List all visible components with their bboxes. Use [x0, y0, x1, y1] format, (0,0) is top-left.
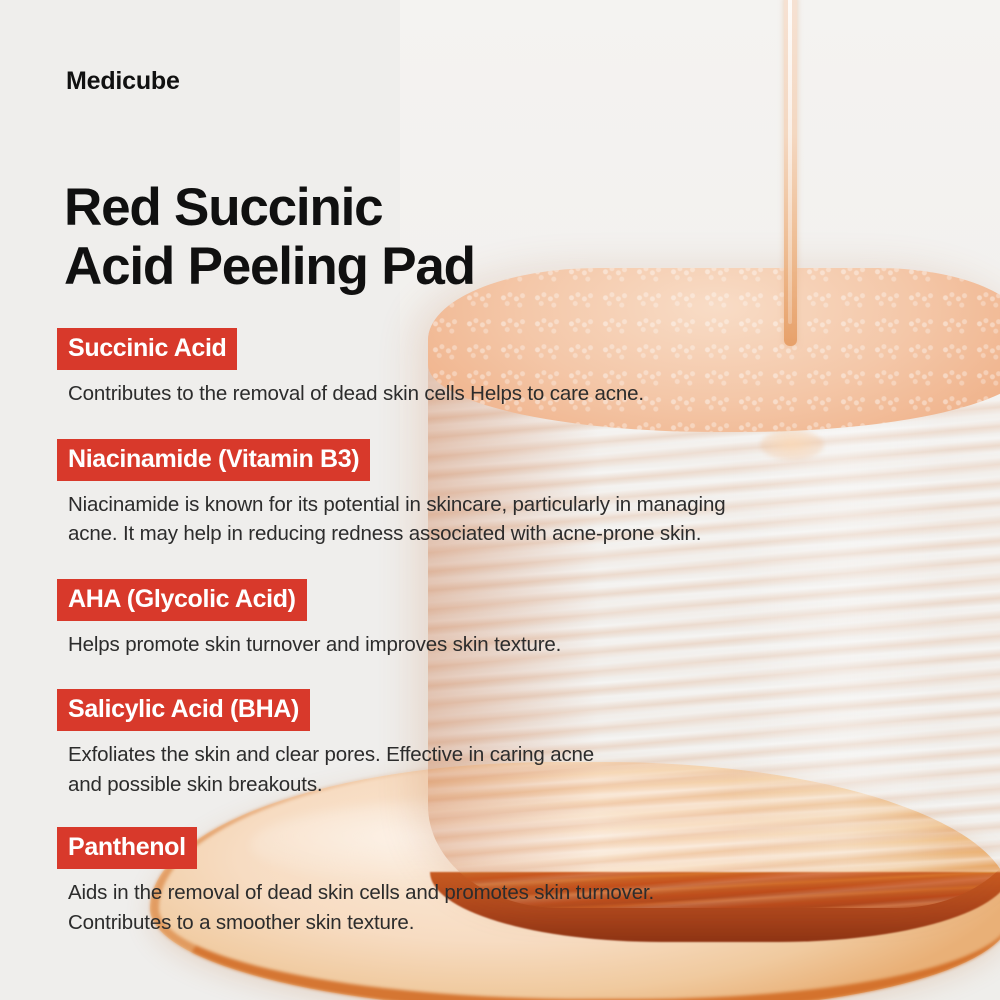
- ingredient-badge: Niacinamide (Vitamin B3): [57, 439, 370, 481]
- ingredient-block-aha: AHA (Glycolic Acid) Helps promote skin t…: [57, 579, 957, 660]
- ingredient-description: Contributes to the removal of dead skin …: [68, 379, 957, 409]
- ingredient-description: Helps promote skin turnover and improves…: [68, 630, 957, 660]
- ingredient-badge: Salicylic Acid (BHA): [57, 689, 310, 731]
- ingredient-description: Exfoliates the skin and clear pores. Eff…: [68, 740, 957, 799]
- ingredient-badge: Panthenol: [57, 827, 197, 869]
- ingredient-block-salicylic-acid: Salicylic Acid (BHA) Exfoliates the skin…: [57, 689, 957, 799]
- ingredient-block-niacinamide: Niacinamide (Vitamin B3) Niacinamide is …: [57, 439, 957, 549]
- brand-name: Medicube: [66, 67, 180, 96]
- text-overlay: Medicube Red Succinic Acid Peeling Pad S…: [0, 0, 1000, 1000]
- ingredient-description: Aids in the removal of dead skin cells a…: [68, 878, 957, 937]
- ingredient-badge: AHA (Glycolic Acid): [57, 579, 307, 621]
- ingredient-badge: Succinic Acid: [57, 328, 237, 370]
- ingredient-block-succinic-acid: Succinic Acid Contributes to the removal…: [57, 328, 957, 409]
- ingredient-description: Niacinamide is known for its potential i…: [68, 490, 957, 549]
- product-info-graphic: Medicube Red Succinic Acid Peeling Pad S…: [0, 0, 1000, 1000]
- ingredient-block-panthenol: Panthenol Aids in the removal of dead sk…: [57, 827, 957, 937]
- ingredient-list: Succinic Acid Contributes to the removal…: [57, 328, 957, 937]
- page-title: Red Succinic Acid Peeling Pad: [64, 178, 475, 298]
